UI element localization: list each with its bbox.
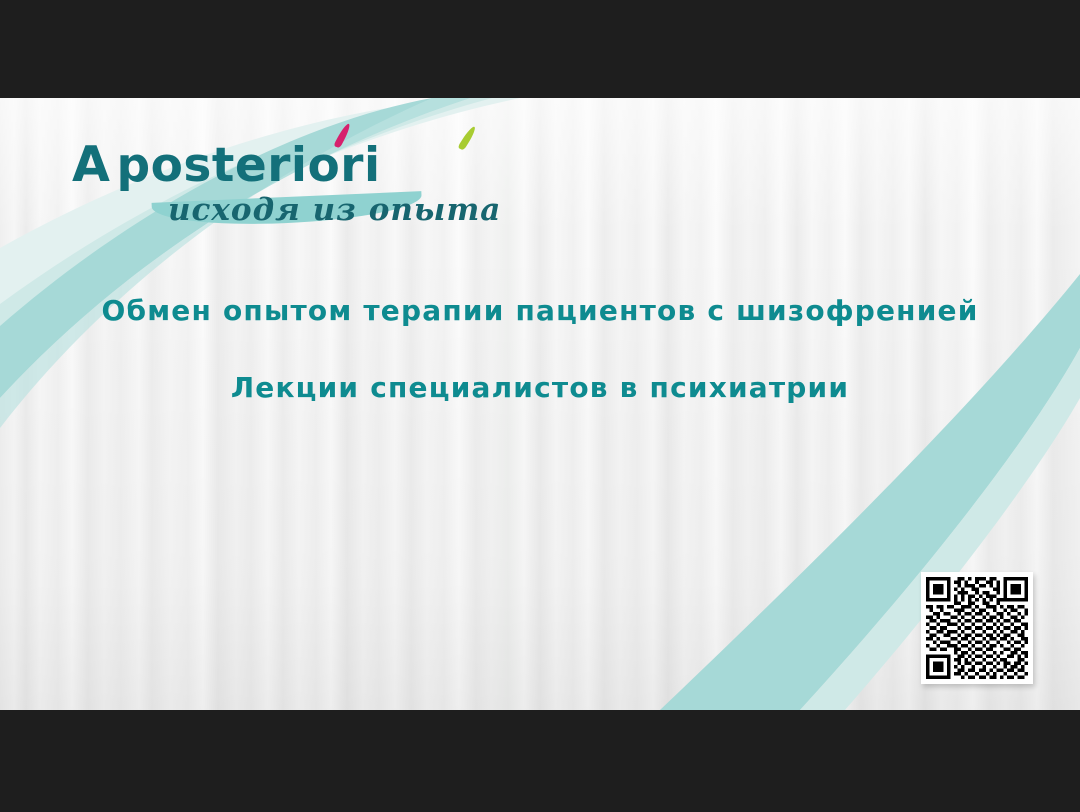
qr-code[interactable] bbox=[921, 572, 1033, 684]
logo-tagline: исходя из опыта bbox=[168, 192, 501, 228]
logo-tagline-group: исходя из опыта bbox=[72, 191, 452, 239]
slide-headlines: Обмен опытом терапии пациентов с шизофре… bbox=[0, 294, 1080, 404]
letterbox-bottom bbox=[0, 710, 1080, 812]
logo-letter-a: A bbox=[72, 136, 110, 193]
slide-headline-secondary: Лекции специалистов в психиатрии bbox=[0, 371, 1080, 404]
logo-wordmark: Aposteriori bbox=[72, 140, 452, 189]
slide-headline-primary: Обмен опытом терапии пациентов с шизофре… bbox=[0, 294, 1080, 327]
letterbox-top bbox=[0, 0, 1080, 98]
logo-word-posteriori: posteriori bbox=[116, 138, 380, 193]
brand-logo: Aposteriori исходя из опыта bbox=[72, 140, 452, 239]
video-frame: Aposteriori исходя из опыта Обмен опытом… bbox=[0, 0, 1080, 812]
qr-code-image bbox=[926, 577, 1028, 679]
presentation-slide: Aposteriori исходя из опыта Обмен опытом… bbox=[0, 98, 1080, 710]
